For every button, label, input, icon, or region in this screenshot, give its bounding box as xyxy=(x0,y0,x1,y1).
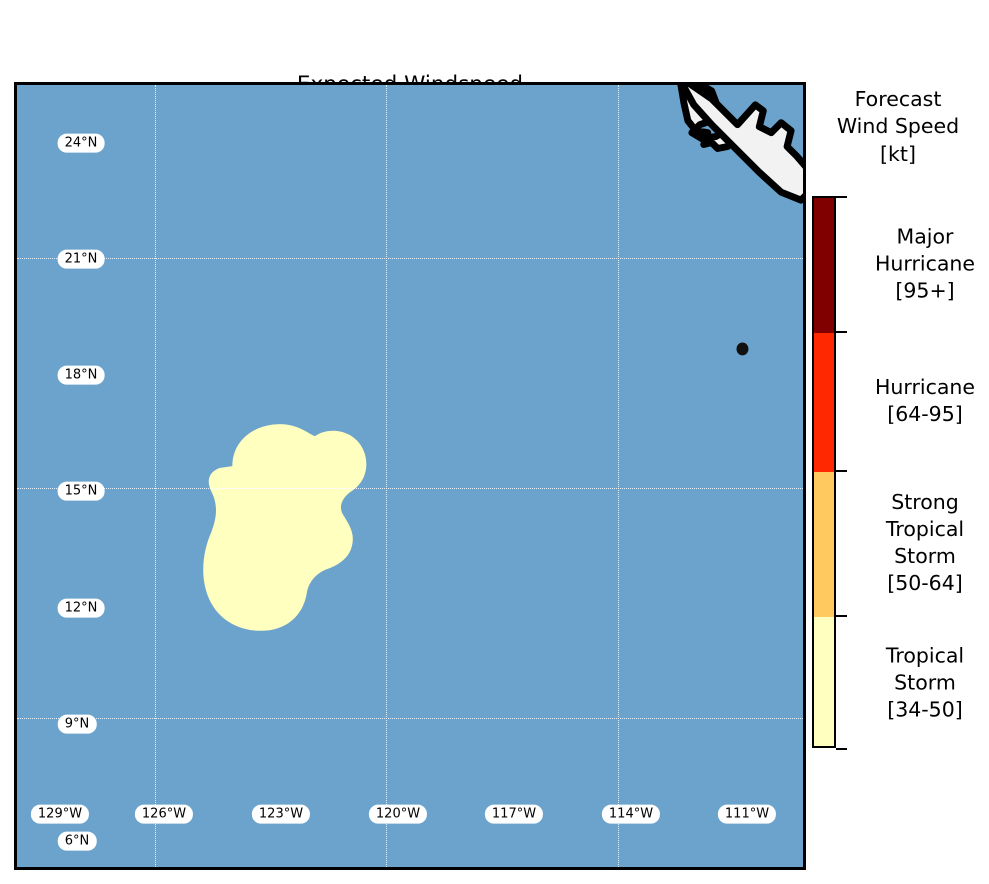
lat-label-18N: 18°N xyxy=(58,366,105,385)
lon-label-129W: 129°W xyxy=(31,805,89,824)
colorbar-tick-50 xyxy=(836,615,847,617)
colorbar-segment-tropical-storm[interactable] xyxy=(814,617,834,748)
lat-label-9N: 9°N xyxy=(58,715,97,734)
colorbar-label-major-hurricane: Major Hurricane [95+] xyxy=(850,223,989,304)
colorbar-segment-major-hurricane[interactable] xyxy=(814,198,834,333)
gridline-lon-114W xyxy=(618,85,620,867)
tropical-storm-region xyxy=(203,424,366,631)
gridline-lat-21N xyxy=(17,258,803,260)
colorbar-gradient[interactable] xyxy=(812,196,836,748)
gridline-lon-126W xyxy=(155,85,157,867)
colorbar-label-hurricane: Hurricane [64-95] xyxy=(850,374,989,428)
lat-label-6N: 6°N xyxy=(58,832,97,851)
lat-label-15N: 15°N xyxy=(58,482,105,501)
lon-label-123W: 123°W xyxy=(252,805,310,824)
baja-california-landmass xyxy=(680,85,803,200)
lat-label-24N: 24°N xyxy=(58,134,105,153)
colorbar-label-tropical-storm: Tropical Storm [34-50] xyxy=(850,642,989,723)
colorbar-tick-bottom xyxy=(836,748,847,750)
map-geography-layer xyxy=(17,85,803,867)
colorbar-segment-hurricane[interactable] xyxy=(814,333,834,472)
colorbar[interactable]: Major Hurricane [95+] Hurricane [64-95] … xyxy=(812,196,836,748)
colorbar-label-strong-tropical-storm: Strong Tropical Storm [50-64] xyxy=(850,489,989,597)
gridline-lat-15N xyxy=(17,488,803,490)
colorbar-segment-strong-tropical-storm[interactable] xyxy=(814,472,834,617)
lon-label-120W: 120°W xyxy=(369,805,427,824)
lat-label-21N: 21°N xyxy=(58,250,105,269)
gridline-lat-9N xyxy=(17,718,803,720)
lon-label-126W: 126°W xyxy=(135,805,193,824)
gridline-lon-120W xyxy=(386,85,388,867)
lon-label-114W: 114°W xyxy=(602,805,660,824)
map-plot-area[interactable]: 24°N 21°N 18°N 15°N 12°N 9°N 6°N 129°W 1… xyxy=(14,82,806,870)
colorbar-tick-top xyxy=(836,196,847,198)
colorbar-tick-64 xyxy=(836,470,847,472)
lon-label-117W: 117°W xyxy=(485,805,543,824)
colorbar-title: Forecast Wind Speed [kt] xyxy=(812,86,984,168)
colorbar-tick-95 xyxy=(836,331,847,333)
lon-label-111W: 111°W xyxy=(718,805,776,824)
lat-label-12N: 12°N xyxy=(58,599,105,618)
island-marker xyxy=(737,343,749,356)
